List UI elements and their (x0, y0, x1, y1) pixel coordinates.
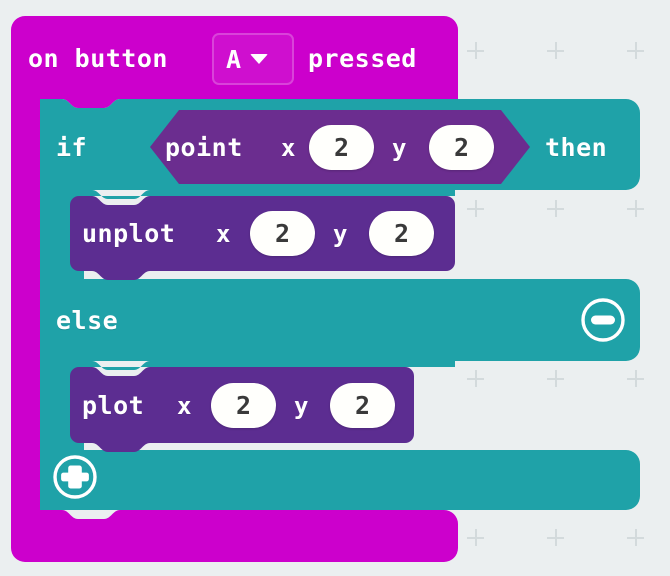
pressed-label: pressed (308, 46, 417, 71)
point-x-value[interactable]: 2 (309, 125, 374, 170)
plot-label: plot (82, 393, 144, 418)
point-x-label: x (281, 136, 296, 160)
else-label: else (56, 308, 118, 333)
then-label: then (545, 135, 607, 160)
plot-x-value[interactable]: 2 (211, 383, 276, 428)
plot-y-label: y (294, 394, 309, 418)
plot-x-label: x (177, 394, 192, 418)
unplot-y-label: y (333, 222, 348, 246)
chevron-down-icon (250, 54, 268, 64)
button-selector-value: A (226, 47, 241, 72)
button-selector-dropdown[interactable]: A (212, 33, 294, 85)
point-y-label: y (392, 136, 407, 160)
point-y-value[interactable]: 2 (429, 125, 494, 170)
unplot-x-value[interactable]: 2 (250, 211, 315, 256)
unplot-y-value[interactable]: 2 (369, 211, 434, 256)
on-button-label: on button (28, 46, 168, 71)
unplot-x-label: x (216, 222, 231, 246)
block-stack (0, 0, 670, 576)
unplot-label: unplot (82, 221, 175, 246)
plot-y-value[interactable]: 2 (330, 383, 395, 428)
workspace-canvas[interactable]: on button A pressed if point x 2 y 2 the… (0, 0, 670, 576)
point-reporter-label: point (165, 135, 243, 160)
if-label: if (56, 135, 87, 160)
